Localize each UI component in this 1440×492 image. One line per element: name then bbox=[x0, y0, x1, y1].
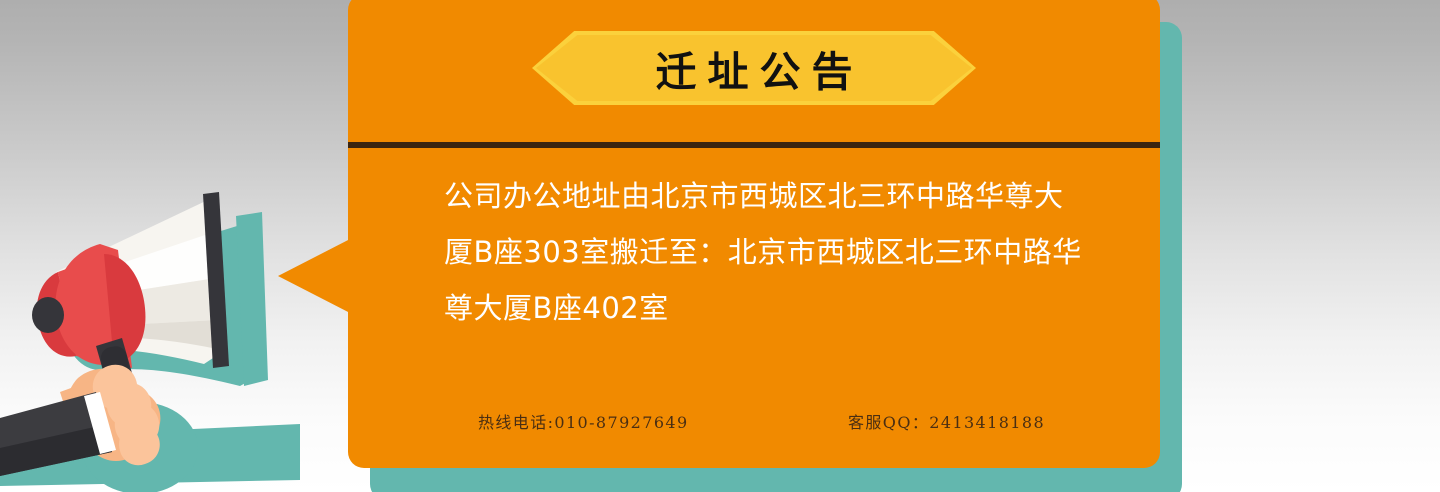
megaphone-back-nub-shape bbox=[32, 297, 64, 333]
title-banner: 迁址公告 bbox=[532, 31, 976, 105]
title-divider bbox=[348, 142, 1160, 148]
contact-footer: 热线电话:010-87927649 客服QQ：2413418188 bbox=[348, 405, 1160, 437]
megaphone-illustration bbox=[0, 180, 330, 492]
announcement-banner-canvas: 迁址公告 公司办公地址由北京市西城区北三环中路华尊大厦B座303室搬迁至：北京市… bbox=[0, 0, 1440, 492]
announcement-body-text: 公司办公地址由北京市西城区北三环中路华尊大厦B座303室搬迁至：北京市西城区北三… bbox=[444, 168, 1092, 336]
customer-service-qq-text: 客服QQ：2413418188 bbox=[848, 409, 1045, 433]
hotline-phone-text: 热线电话:010-87927649 bbox=[478, 409, 689, 433]
announcement-card-content: 迁址公告 公司办公地址由北京市西城区北三环中路华尊大厦B座303室搬迁至：北京市… bbox=[348, 0, 1160, 468]
card-tail bbox=[278, 238, 352, 314]
page-title: 迁址公告 bbox=[532, 31, 976, 105]
